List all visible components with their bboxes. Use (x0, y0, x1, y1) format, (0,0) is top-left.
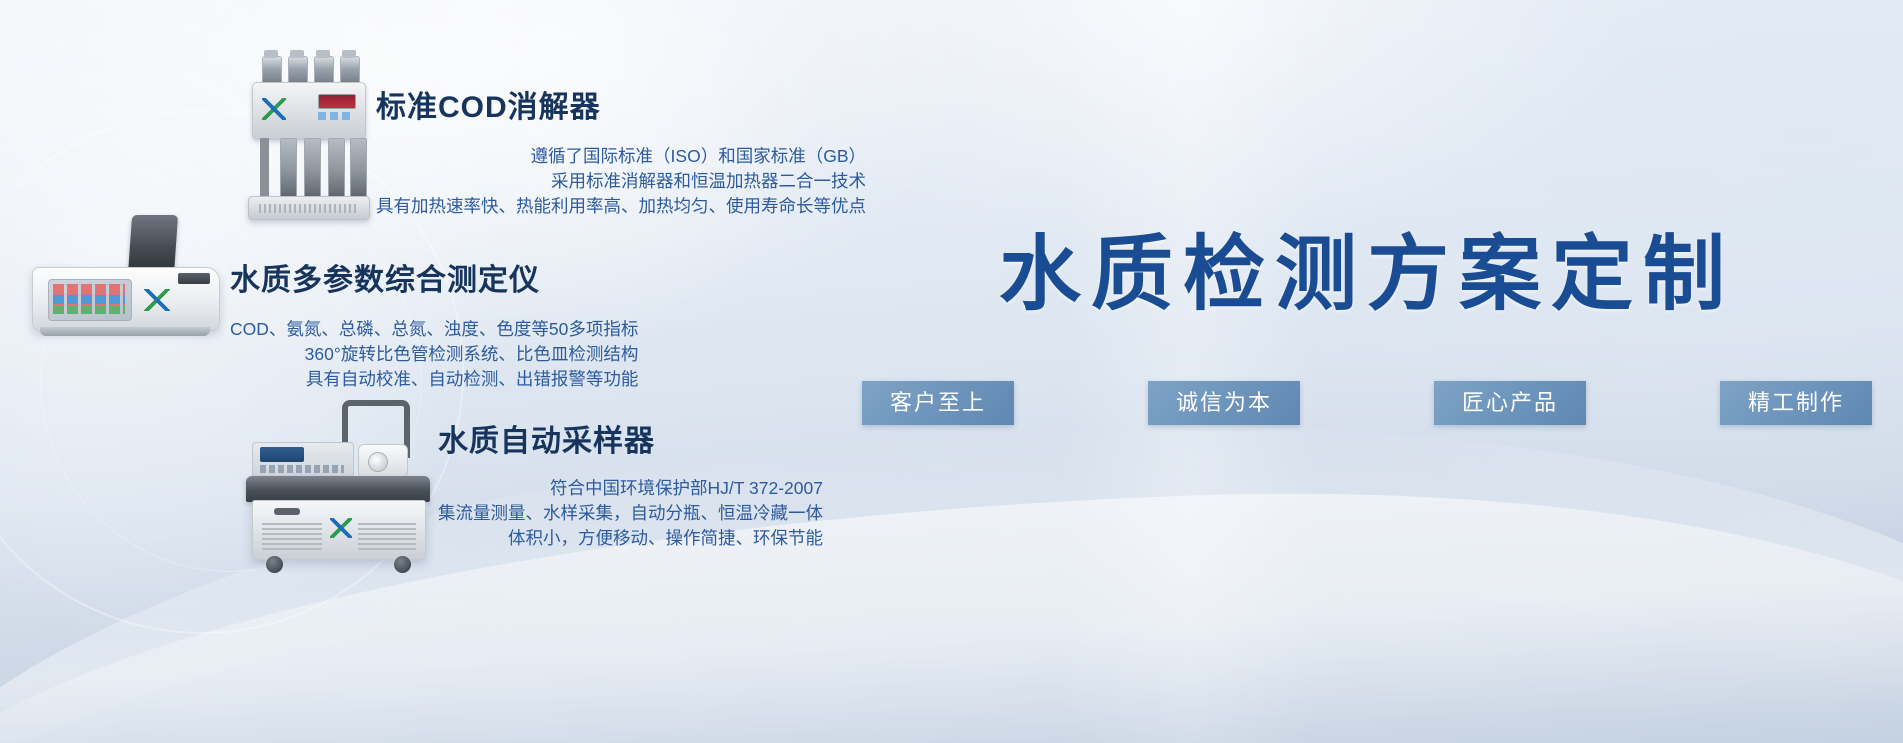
product-desc-3: 符合中国环境保护部HJ/T 372-2007 集流量测量、水样采集，自动分瓶、恒… (438, 476, 823, 551)
product-desc-line: 具有自动校准、自动检测、出错报警等功能 (230, 367, 638, 392)
product-desc-line: 符合中国环境保护部HJ/T 372-2007 (438, 476, 823, 501)
product-desc-line: 体积小，方便移动、操作简捷、环保节能 (438, 526, 823, 551)
badge-craftsmanship[interactable]: 匠心产品 (1434, 381, 1586, 425)
product-desc-line: 采用标准消解器和恒温加热器二合一技术 (376, 169, 866, 194)
multiparameter-analyzer-icon (20, 215, 230, 350)
badge-integrity[interactable]: 诚信为本 (1148, 381, 1300, 425)
badge-list: 客户至上 诚信为本 匠心产品 精工制作 (862, 381, 1872, 425)
product-text-2: 水质多参数综合测定仪 COD、氨氮、总磷、总氮、浊度、色度等50多项指标 360… (230, 215, 638, 392)
product-block-cod-digester: 标准COD消解器 遵循了国际标准（ISO）和国家标准（GB） 采用标准消解器和恒… (228, 42, 866, 222)
page-title: 水质检测方案定制 (862, 234, 1872, 316)
product-text-1: 标准COD消解器 遵循了国际标准（ISO）和国家标准（GB） 采用标准消解器和恒… (376, 42, 866, 219)
badge-fine-workmanship[interactable]: 精工制作 (1720, 381, 1872, 425)
product-desc-1: 遵循了国际标准（ISO）和国家标准（GB） 采用标准消解器和恒温加热器二合一技术… (376, 144, 866, 219)
product-desc-2: COD、氨氮、总磷、总氮、浊度、色度等50多项指标 360°旋转比色管检测系统、… (230, 317, 638, 392)
cod-digester-icon (246, 42, 376, 222)
product-desc-line: 集流量测量、水样采集，自动分瓶、恒温冷藏一体 (438, 501, 823, 526)
badge-customer-first[interactable]: 客户至上 (862, 381, 1014, 425)
product-desc-line: 360°旋转比色管检测系统、比色皿检测结构 (230, 342, 638, 367)
product-block-multiparameter-analyzer: 水质多参数综合测定仪 COD、氨氮、总磷、总氮、浊度、色度等50多项指标 360… (20, 215, 638, 392)
product-title-1: 标准COD消解器 (376, 82, 866, 126)
product-desc-line: COD、氨氮、总磷、总氮、浊度、色度等50多项指标 (230, 317, 638, 342)
product-title-2: 水质多参数综合测定仪 (230, 255, 638, 299)
product-title-3: 水质自动采样器 (438, 416, 823, 460)
auto-water-sampler-icon (238, 400, 438, 575)
promo-banner: 标准COD消解器 遵循了国际标准（ISO）和国家标准（GB） 采用标准消解器和恒… (0, 0, 1903, 743)
product-text-3: 水质自动采样器 符合中国环境保护部HJ/T 372-2007 集流量测量、水样采… (438, 400, 823, 551)
product-block-auto-water-sampler: 水质自动采样器 符合中国环境保护部HJ/T 372-2007 集流量测量、水样采… (238, 400, 823, 575)
product-desc-line: 遵循了国际标准（ISO）和国家标准（GB） (376, 144, 866, 169)
